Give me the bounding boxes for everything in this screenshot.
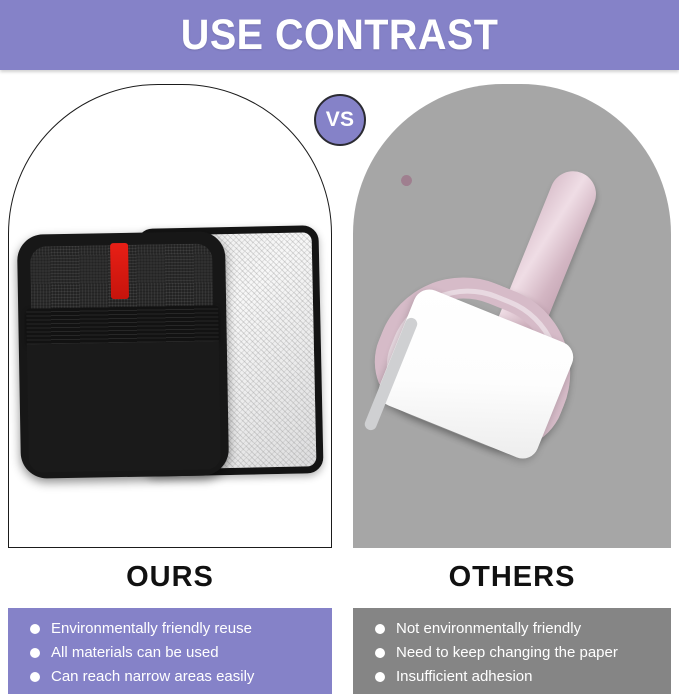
list-item-label: Environmentally friendly reuse — [51, 620, 252, 637]
pad-black-body — [17, 231, 229, 479]
product-image-ours — [19, 225, 323, 479]
product-image-others — [373, 164, 653, 464]
list-item: Not environmentally friendly — [375, 617, 671, 640]
bullet-list-others: Not environmentally friendly Need to kee… — [353, 608, 671, 694]
list-item: Environmentally friendly reuse — [30, 617, 332, 640]
list-item-label: Not environmentally friendly — [396, 620, 581, 637]
bullet-dot-icon — [30, 624, 40, 634]
comparison-infographic: USE CONTRAST VS OURS OTHERS — [0, 0, 679, 698]
list-item-label: All materials can be used — [51, 644, 219, 661]
page-title: USE CONTRAST — [181, 11, 499, 60]
caption-ours: OURS — [8, 558, 332, 596]
bullet-dot-icon — [375, 624, 385, 634]
pad-red-pull-tab — [110, 243, 129, 299]
vs-badge: VS — [314, 94, 366, 146]
panel-ours — [8, 84, 332, 548]
pad-elastic-strap — [26, 305, 219, 344]
list-item: Insufficient adhesion — [375, 665, 671, 688]
bullet-dot-icon — [30, 648, 40, 658]
list-item: All materials can be used — [30, 641, 332, 664]
list-item-label: Can reach narrow areas easily — [51, 668, 254, 685]
bullet-dot-icon — [375, 672, 385, 682]
list-item-label: Insufficient adhesion — [396, 668, 533, 685]
header-banner: USE CONTRAST — [0, 0, 679, 70]
caption-others: OTHERS — [353, 558, 671, 596]
list-item-label: Need to keep changing the paper — [396, 644, 618, 661]
panel-others — [353, 84, 671, 548]
list-item: Can reach narrow areas easily — [30, 665, 332, 688]
bullet-dot-icon — [30, 672, 40, 682]
list-item: Need to keep changing the paper — [375, 641, 671, 664]
bullet-dot-icon — [375, 648, 385, 658]
roller-hang-hole-icon — [399, 173, 413, 187]
bullet-list-ours: Environmentally friendly reuse All mater… — [8, 608, 332, 694]
vs-badge-label: VS — [326, 108, 355, 132]
pad-pocket — [27, 341, 221, 472]
